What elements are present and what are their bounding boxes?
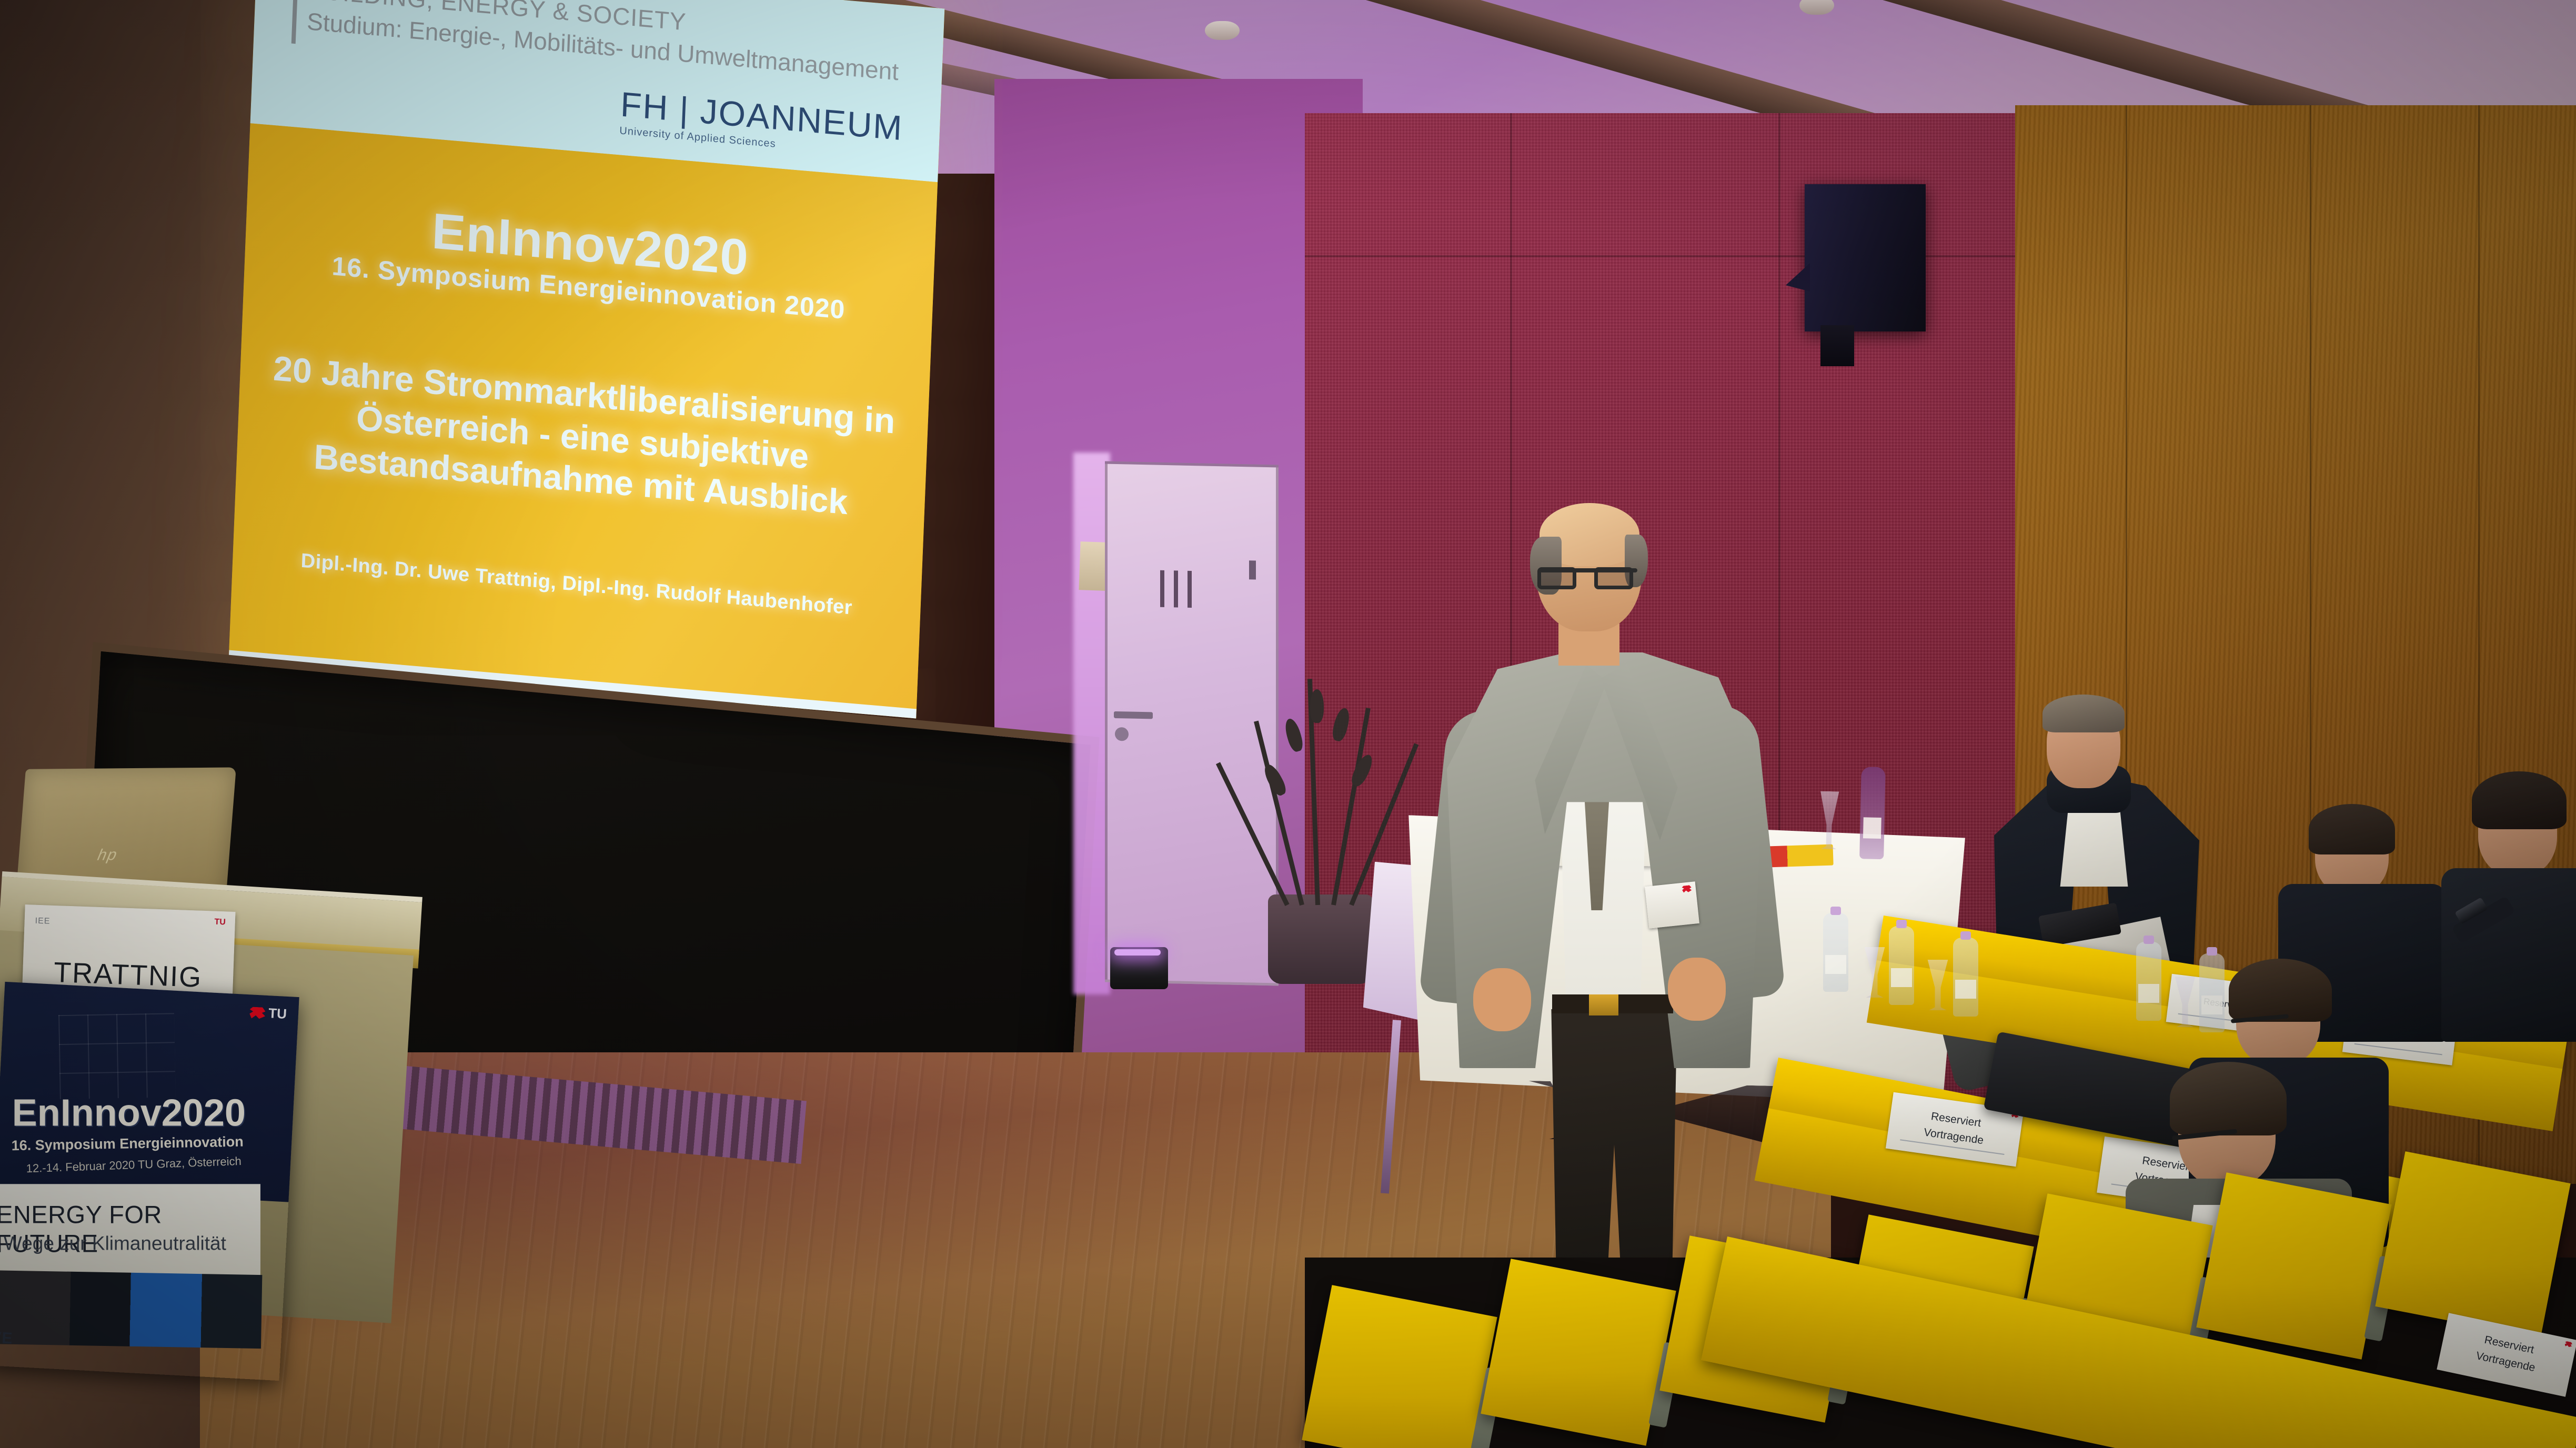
folding-seat[interactable] <box>1481 1259 1676 1446</box>
tu-graz-logo-icon: TU <box>214 918 226 928</box>
presenter-belt-buckle <box>1589 994 1618 1015</box>
door-lock-icon[interactable] <box>1115 727 1129 741</box>
door-hinge-icon <box>1249 560 1256 579</box>
water-bottle <box>1859 767 1886 859</box>
projection-screen: BUILDING, ENERGY & SOCIETY Studium: Ener… <box>229 0 945 718</box>
uplight-fixture <box>1110 947 1168 989</box>
folding-seat[interactable] <box>2196 1172 2391 1360</box>
poster-headline-panel: ENERGY FOR FUTURE Wege zur Klimaneutrali… <box>0 1184 260 1279</box>
fh-joanneum-logo: FH | JOANNEUM University of Applied Scie… <box>619 86 904 160</box>
laptop-brand-logo: hp <box>94 846 121 864</box>
audience-member-far-right <box>2431 779 2576 1031</box>
slide-authors: Dipl.-Ing. Dr. Uwe Trattnig, Dipl.-Ing. … <box>254 546 900 624</box>
poster-photo-strip <box>0 1270 262 1349</box>
tu-graz-logo-icon <box>2564 1341 2573 1348</box>
lectern-card-org: IEE <box>35 917 50 927</box>
water-bottle <box>2136 942 2161 1021</box>
poster-subheadline: Wege zur Klimaneutralität <box>4 1232 226 1254</box>
poster-sponsor-logo: OVE <box>0 1328 13 1348</box>
presenter-speaker <box>1436 505 1778 1273</box>
wall-sign <box>1079 541 1106 591</box>
door-handle-icon[interactable] <box>1114 711 1153 719</box>
poster-brand: EnInnov2020 <box>12 1092 246 1135</box>
presenter-name-badge <box>1645 881 1699 929</box>
conference-poster: TU EnInnov2020 16. Symposium Energieinno… <box>0 982 299 1381</box>
door-vent-icon <box>1160 570 1197 608</box>
smoke-detector-icon <box>1799 0 1834 15</box>
water-bottle <box>1953 938 1978 1017</box>
presentation-slide: BUILDING, ENERGY & SOCIETY Studium: Ener… <box>229 0 945 718</box>
poster-grid-decoration <box>58 1013 176 1099</box>
slide-header-rule <box>291 0 298 44</box>
tu-graz-bug-icon <box>249 1007 266 1019</box>
presenter-right-hand <box>1668 958 1726 1021</box>
presenter-left-hand <box>1473 968 1531 1031</box>
pa-speaker-icon <box>1805 184 1926 331</box>
tu-graz-logo: TU <box>249 1004 287 1022</box>
slide-title: 20 Jahre Strommarktliberalisierung in Ös… <box>257 346 908 528</box>
poster-top-panel: TU EnInnov2020 16. Symposium Energieinno… <box>0 982 299 1202</box>
glasses-icon <box>1539 568 1637 572</box>
smoke-detector-icon <box>1205 21 1240 40</box>
water-bottle <box>1823 913 1848 992</box>
tu-graz-logo-text: TU <box>268 1005 287 1022</box>
slide-body: EnInnov2020 16. Symposium Energieinnovat… <box>229 123 938 718</box>
poster-date-location: 12.-14. Februar 2020 TU Graz, Österreich <box>26 1154 241 1175</box>
lecture-hall-photo: BUILDING, ENERGY & SOCIETY Studium: Ener… <box>0 0 2576 1448</box>
water-bottle <box>1889 926 1914 1005</box>
folding-seat[interactable] <box>2375 1151 2570 1339</box>
seated-hair <box>2042 695 2125 732</box>
plant-pot <box>1268 894 1373 984</box>
poster-subtitle: 16. Symposium Energieinnovation <box>11 1134 244 1154</box>
